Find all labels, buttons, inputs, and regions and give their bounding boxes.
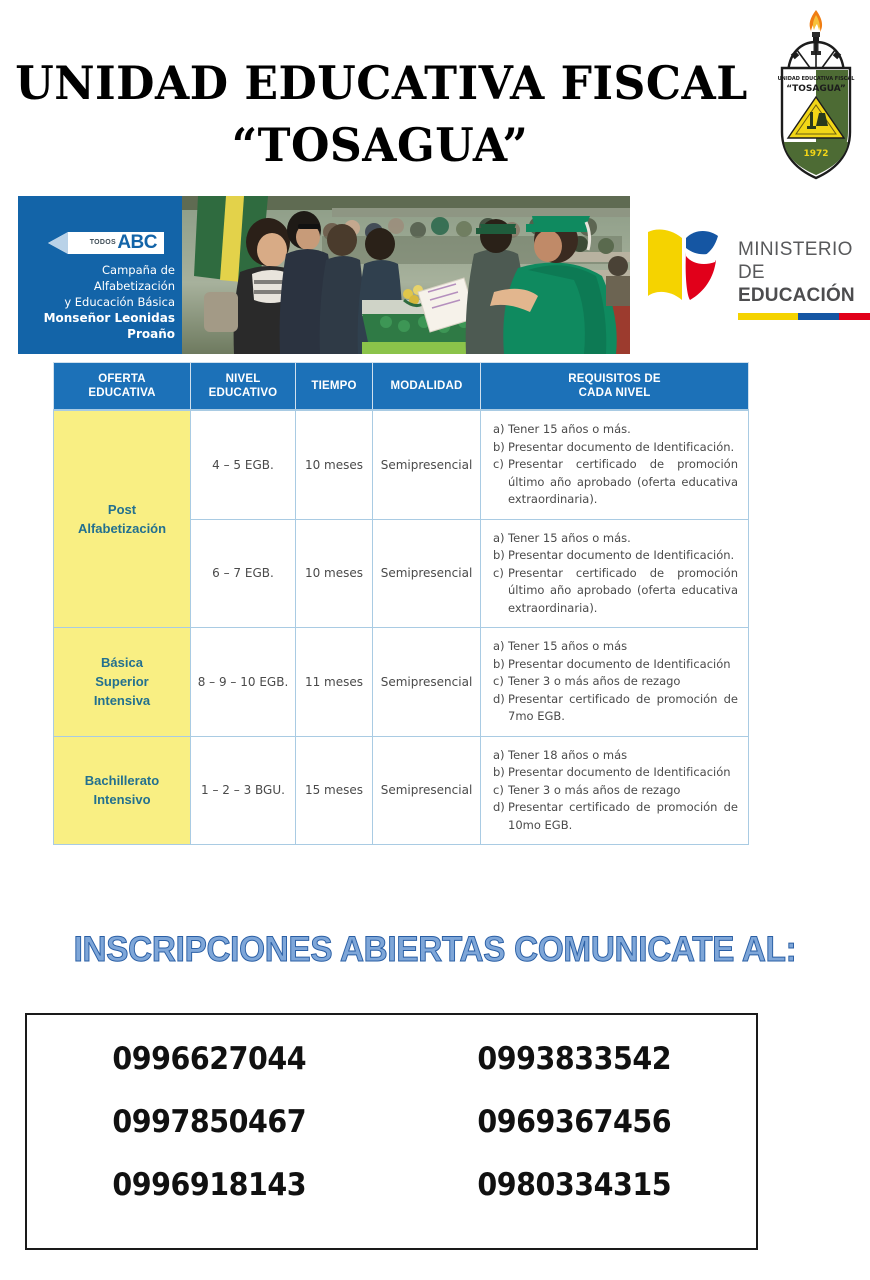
cell-oferta-basica-superior-intensiva: Básica Superior Intensiva: [54, 628, 191, 737]
requisito-item: a)Tener 15 años o más: [493, 638, 738, 656]
requisito-item: b)Presentar documento de Identificación.: [493, 439, 738, 457]
requisito-item: c)Presentar certificado de promoción últ…: [493, 565, 738, 618]
ministerio-line2-bold: EDUCACIÓN: [738, 285, 855, 306]
requisitos-list: a)Tener 15 años o más b)Presentar docume…: [493, 638, 738, 726]
todos-abc-logo: TODOS ABC: [48, 230, 164, 256]
contact-phone-box: 0996627044 0993833542 0997850467 0969367…: [25, 1013, 758, 1250]
requisito-item: d)Presentar certificado de promoción de …: [493, 691, 738, 726]
abc-caption: Campaña de Alfabetización y Educación Bá…: [22, 262, 175, 342]
page-title-line1: UNIDAD EDUCATIVA FISCAL: [15, 52, 745, 114]
graduation-photo: [182, 196, 630, 354]
cell-requisitos: a)Tener 15 años o más. b)Presentar docum…: [481, 519, 749, 628]
requisito-item: b)Presentar documento de Identificación: [493, 656, 738, 674]
table-row: Básica Superior Intensiva 8 – 9 – 10 EGB…: [54, 628, 749, 737]
column-header-nivel-line1: NIVEL: [193, 372, 293, 386]
requisito-marker: c): [493, 673, 508, 691]
cell-requisitos: a)Tener 15 años o más b)Presentar docume…: [481, 628, 749, 737]
requisito-item: c)Tener 3 o más años de rezago: [493, 673, 738, 691]
table-row: Bachillerato Intensivo 1 – 2 – 3 BGU. 15…: [54, 736, 749, 845]
ministerio-line2: DE EDUCACIÓN: [738, 261, 870, 307]
requisito-item: d)Presentar certificado de promoción de …: [493, 799, 738, 834]
cell-nivel: 6 – 7 EGB.: [191, 519, 296, 628]
requisito-marker: d): [493, 691, 508, 709]
requisito-marker: c): [493, 782, 508, 800]
school-crest-logo: UNIDAD EDUCATIVA FISCAL “TOSAGUA” 1972: [768, 4, 864, 184]
cell-nivel: 1 – 2 – 3 BGU.: [191, 736, 296, 845]
requisito-marker: d): [493, 799, 508, 817]
cell-nivel: 8 – 9 – 10 EGB.: [191, 628, 296, 737]
requisito-marker: a): [493, 747, 508, 765]
requisito-text: Presentar certificado de promoción de 10…: [508, 799, 738, 834]
cell-tiempo: 10 meses: [296, 519, 373, 628]
cell-tiempo: 11 meses: [296, 628, 373, 737]
cell-nivel: 4 – 5 EGB.: [191, 410, 296, 519]
column-header-requisitos-line1: REQUISITOS DE: [483, 372, 746, 386]
requisito-marker: b): [493, 764, 508, 782]
phone-number[interactable]: 0993833542: [406, 1041, 741, 1077]
table-row: Post Alfabetización 4 – 5 EGB. 10 meses …: [54, 410, 749, 519]
phone-number[interactable]: 0969367456: [406, 1104, 741, 1140]
inscripciones-abiertas-heading: INSCRIPCIONES ABIERTAS COMUNICATE AL:: [22, 928, 849, 972]
requisitos-list: a)Tener 18 años o más b)Presentar docume…: [493, 747, 738, 835]
phone-number[interactable]: 0997850467: [42, 1104, 377, 1140]
cell-oferta-line1: Básica: [58, 653, 186, 672]
requisito-marker: c): [493, 456, 508, 474]
requisito-text: Tener 15 años o más: [508, 638, 738, 656]
cell-oferta-line2: Alfabetización: [58, 519, 186, 538]
cell-modalidad: Semipresencial: [373, 410, 481, 519]
ministerio-line1: MINISTERIO: [738, 238, 870, 261]
requisito-text: Presentar documento de Identificación.: [508, 547, 738, 565]
abc-label: ABC: [117, 232, 157, 254]
requisito-item: a)Tener 15 años o más.: [493, 421, 738, 439]
abc-caption-line1: Campaña de Alfabetización: [22, 262, 175, 294]
requisito-text: Presentar certificado de promoción últim…: [508, 456, 738, 509]
todos-abc-panel: TODOS ABC Campaña de Alfabetización y Ed…: [18, 196, 182, 354]
cell-tiempo: 10 meses: [296, 410, 373, 519]
cell-oferta-bachillerato-intensivo: Bachillerato Intensivo: [54, 736, 191, 845]
page-title-line2: “TOSAGUA”: [15, 114, 745, 176]
requisitos-list: a)Tener 15 años o más. b)Presentar docum…: [493, 530, 738, 618]
column-header-oferta-educativa: OFERTA EDUCATIVA: [54, 363, 191, 411]
cell-modalidad: Semipresencial: [373, 628, 481, 737]
cell-oferta-line3: Intensiva: [58, 691, 186, 710]
page-header: UNIDAD EDUCATIVA FISCAL “TOSAGUA”: [0, 0, 870, 190]
requisito-text: Presentar certificado de promoción últim…: [508, 565, 738, 618]
cell-oferta-line2: Superior: [58, 672, 186, 691]
column-header-tiempo: TIEMPO: [296, 363, 373, 411]
requisito-marker: a): [493, 638, 508, 656]
crest-icon: UNIDAD EDUCATIVA FISCAL “TOSAGUA” 1972: [768, 4, 864, 184]
requisito-item: a)Tener 18 años o más: [493, 747, 738, 765]
requisito-text: Tener 3 o más años de rezago: [508, 673, 738, 691]
requisito-marker: a): [493, 421, 508, 439]
abc-caption-line2: y Educación Básica: [22, 294, 175, 310]
phone-number[interactable]: 0980334315: [406, 1167, 741, 1203]
todos-label: TODOS: [90, 239, 116, 246]
column-header-modalidad: MODALIDAD: [373, 363, 481, 411]
phone-number[interactable]: 0996918143: [42, 1167, 377, 1203]
page-title: UNIDAD EDUCATIVA FISCAL “TOSAGUA”: [15, 52, 745, 176]
cell-modalidad: Semipresencial: [373, 736, 481, 845]
open-book-icon: [644, 222, 724, 306]
requisito-text: Tener 15 años o más.: [508, 421, 738, 439]
requisito-item: b)Presentar documento de Identificación: [493, 764, 738, 782]
requisito-item: a)Tener 15 años o más.: [493, 530, 738, 548]
requisito-marker: a): [493, 530, 508, 548]
cell-oferta-line1: Bachillerato: [58, 771, 186, 790]
requisitos-list: a)Tener 15 años o más. b)Presentar docum…: [493, 421, 738, 509]
requisito-marker: b): [493, 547, 508, 565]
requisito-marker: b): [493, 656, 508, 674]
cell-requisitos: a)Tener 18 años o más b)Presentar docume…: [481, 736, 749, 845]
crest-year-text: 1972: [803, 149, 828, 159]
column-header-requisitos: REQUISITOS DE CADA NIVEL: [481, 363, 749, 411]
requisito-text: Tener 3 o más años de rezago: [508, 782, 738, 800]
column-header-nivel-educativo: NIVEL EDUCATIVO: [191, 363, 296, 411]
requisito-item: c)Presentar certificado de promoción últ…: [493, 456, 738, 509]
requisito-item: c)Tener 3 o más años de rezago: [493, 782, 738, 800]
banner-strip: TODOS ABC Campaña de Alfabetización y Ed…: [18, 196, 852, 354]
requisito-text: Presentar documento de Identificación.: [508, 439, 738, 457]
requisito-text: Presentar certificado de promoción de 7m…: [508, 691, 738, 726]
cell-oferta-post-alfabetizacion: Post Alfabetización: [54, 410, 191, 628]
cell-requisitos: a)Tener 15 años o más. b)Presentar docum…: [481, 410, 749, 519]
ministerio-line2-prefix: DE: [738, 262, 765, 283]
cell-modalidad: Semipresencial: [373, 519, 481, 628]
column-header-oferta-line2: EDUCATIVA: [56, 386, 188, 400]
requisito-text: Presentar documento de Identificación: [508, 764, 738, 782]
column-header-oferta-line1: OFERTA: [56, 372, 188, 386]
abc-caption-line3: Monseñor Leonidas Proaño: [22, 310, 175, 342]
requisito-text: Tener 18 años o más: [508, 747, 738, 765]
cell-oferta-line1: Post: [58, 500, 186, 519]
cell-oferta-line2: Intensivo: [58, 790, 186, 809]
ministerio-educacion-logo: MINISTERIO DE EDUCACIÓN: [630, 196, 852, 354]
requisito-item: b)Presentar documento de Identificación.: [493, 547, 738, 565]
requisito-text: Tener 15 años o más.: [508, 530, 738, 548]
requisito-marker: c): [493, 565, 508, 583]
requisito-marker: b): [493, 439, 508, 457]
crest-institution-text: UNIDAD EDUCATIVA FISCAL: [778, 76, 856, 82]
phone-number-grid: 0996627044 0993833542 0997850467 0969367…: [27, 1041, 756, 1203]
ecuador-tricolor-bar: [738, 313, 870, 320]
column-header-requisitos-line2: CADA NIVEL: [483, 386, 746, 400]
column-header-nivel-line2: EDUCATIVO: [193, 386, 293, 400]
phone-number[interactable]: 0996627044: [42, 1041, 377, 1077]
graduation-photo-image: [182, 196, 630, 354]
table-header-row: OFERTA EDUCATIVA NIVEL EDUCATIVO TIEMPO …: [54, 363, 749, 411]
educational-offer-table: OFERTA EDUCATIVA NIVEL EDUCATIVO TIEMPO …: [53, 362, 749, 845]
crest-name-text: “TOSAGUA”: [786, 84, 846, 94]
cell-tiempo: 15 meses: [296, 736, 373, 845]
requisito-text: Presentar documento de Identificación: [508, 656, 738, 674]
